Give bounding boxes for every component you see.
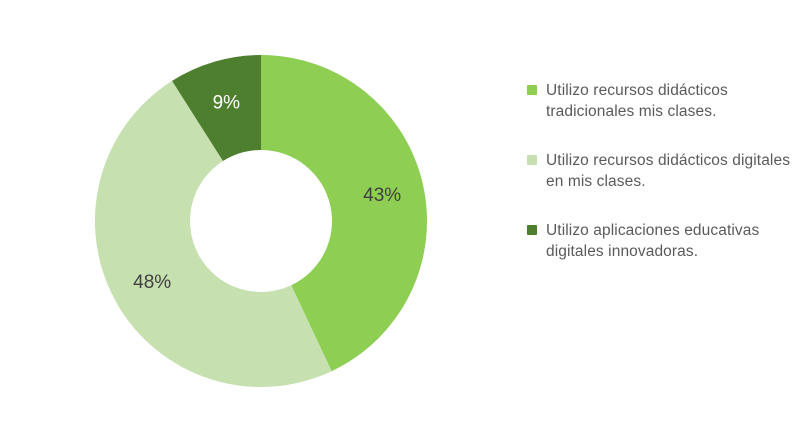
- legend-item-1[interactable]: Utilizo recursos didácticos digitales en…: [527, 150, 795, 192]
- chart-legend: Utilizo recursos didácticos tradicionale…: [527, 80, 795, 290]
- legend-swatch-icon-1: [527, 155, 537, 165]
- donut-value-label-1: 48%: [133, 272, 171, 293]
- donut-value-label-0: 43%: [363, 185, 401, 206]
- donut-value-label-2: 9%: [213, 93, 241, 114]
- legend-label-0: Utilizo recursos didácticos tradicionale…: [546, 80, 795, 122]
- legend-label-2: Utilizo aplicaciones educativas digitale…: [546, 220, 795, 262]
- legend-item-2[interactable]: Utilizo aplicaciones educativas digitale…: [527, 220, 795, 262]
- chart-page: 43%48%9% Utilizo recursos didácticos tra…: [0, 0, 800, 432]
- donut-chart: 43%48%9%: [0, 0, 500, 432]
- legend-swatch-icon-0: [527, 85, 537, 95]
- legend-swatch-icon-2: [527, 225, 537, 235]
- donut-chart-svg: 43%48%9%: [0, 0, 500, 432]
- legend-label-1: Utilizo recursos didácticos digitales en…: [546, 150, 795, 192]
- legend-item-0[interactable]: Utilizo recursos didácticos tradicionale…: [527, 80, 795, 122]
- donut-slice-group: [95, 55, 427, 387]
